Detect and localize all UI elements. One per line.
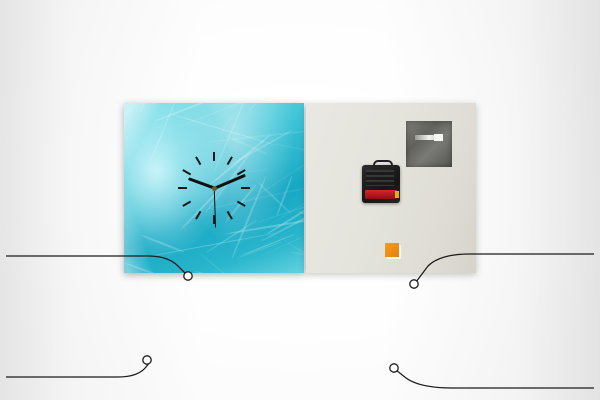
metal-hanger-icon <box>406 121 452 167</box>
infographic-canvas: GEHARDGLAS Bestand tegen breuken krassen… <box>0 0 600 400</box>
connector-lines <box>0 170 600 400</box>
